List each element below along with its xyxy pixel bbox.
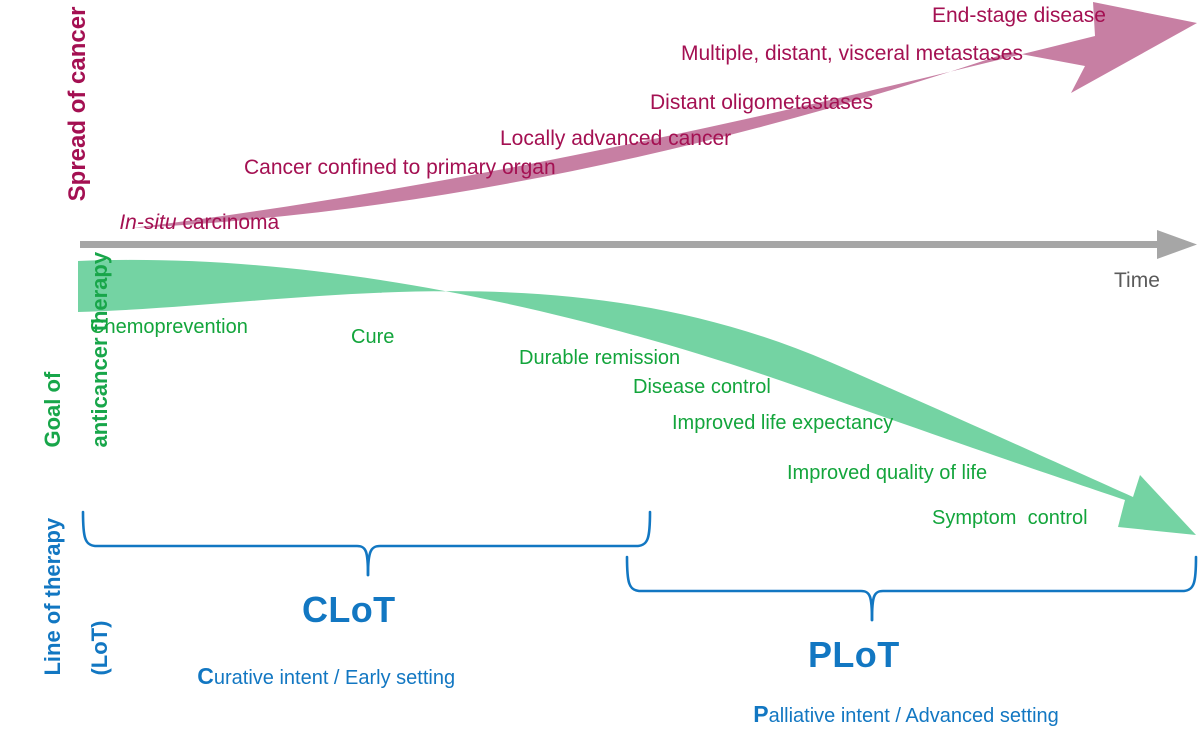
spread-stage-label-end-stage-disease: End-stage disease xyxy=(932,5,1106,26)
axis-title-goal-line1: Goal of xyxy=(40,372,65,448)
therapy-goal-label-symptom-control: Symptom control xyxy=(932,508,1088,528)
axis-title-lot-line2: (LoT) xyxy=(87,621,112,676)
time-axis-label: Time xyxy=(1114,270,1160,291)
lot-description-plot-capital: P xyxy=(753,701,768,727)
spread-stage-label-visceral-metastases: Multiple, distant, visceral metastases xyxy=(681,43,1023,64)
lot-description-plot: Palliative intent / Advanced setting xyxy=(731,683,1059,746)
spread-stage-label-in-situ-carcinoma: In-situ carcinoma xyxy=(96,191,279,254)
axis-title-goal-of-therapy: Goal of anticancer therapy xyxy=(18,252,135,472)
lot-acronym-plot: PLoT xyxy=(808,637,900,673)
therapy-goal-label-cure: Cure xyxy=(351,327,394,347)
spread-stage-label-cancer-confined: Cancer confined to primary organ xyxy=(244,157,556,178)
therapy-goal-label-improved-quality-of-life: Improved quality of life xyxy=(787,463,987,483)
lot-description-clot-capital: C xyxy=(197,663,214,689)
lot-acronym-clot: CLoT xyxy=(302,592,396,628)
lot-description-clot-rest: urative intent / Early setting xyxy=(214,667,455,689)
spread-of-cancer-arrow xyxy=(132,2,1197,228)
clot-brace xyxy=(83,512,650,575)
spread-stage-label-distant-oligometastases: Distant oligometastases xyxy=(650,92,873,113)
therapy-goal-label-chemoprevention: Chemoprevention xyxy=(90,317,248,337)
spread-stage-label-italic-lead: In-situ xyxy=(119,211,176,234)
lot-description-clot: Curative intent / Early setting xyxy=(175,645,455,708)
spread-stage-label-rest: carcinoma xyxy=(177,211,280,234)
therapy-goal-label-disease-control: Disease control xyxy=(633,377,771,397)
lot-description-plot-rest: alliative intent / Advanced setting xyxy=(769,705,1059,727)
axis-title-goal-line2: anticancer therapy xyxy=(87,252,112,448)
therapy-goal-label-improved-life-expectancy: Improved life expectancy xyxy=(672,413,893,433)
axis-title-spread-line1: Spread of cancer xyxy=(64,7,91,202)
plot-brace xyxy=(627,557,1196,620)
axis-title-line-of-therapy: Line of therapy (LoT) xyxy=(18,518,135,700)
axis-title-lot-line1: Line of therapy xyxy=(40,518,65,676)
diagram-canvas: Spread of cancer Goal of anticancer ther… xyxy=(0,0,1200,709)
spread-stage-label-locally-advanced: Locally advanced cancer xyxy=(500,128,731,149)
therapy-goal-label-durable-remission: Durable remission xyxy=(519,348,680,368)
